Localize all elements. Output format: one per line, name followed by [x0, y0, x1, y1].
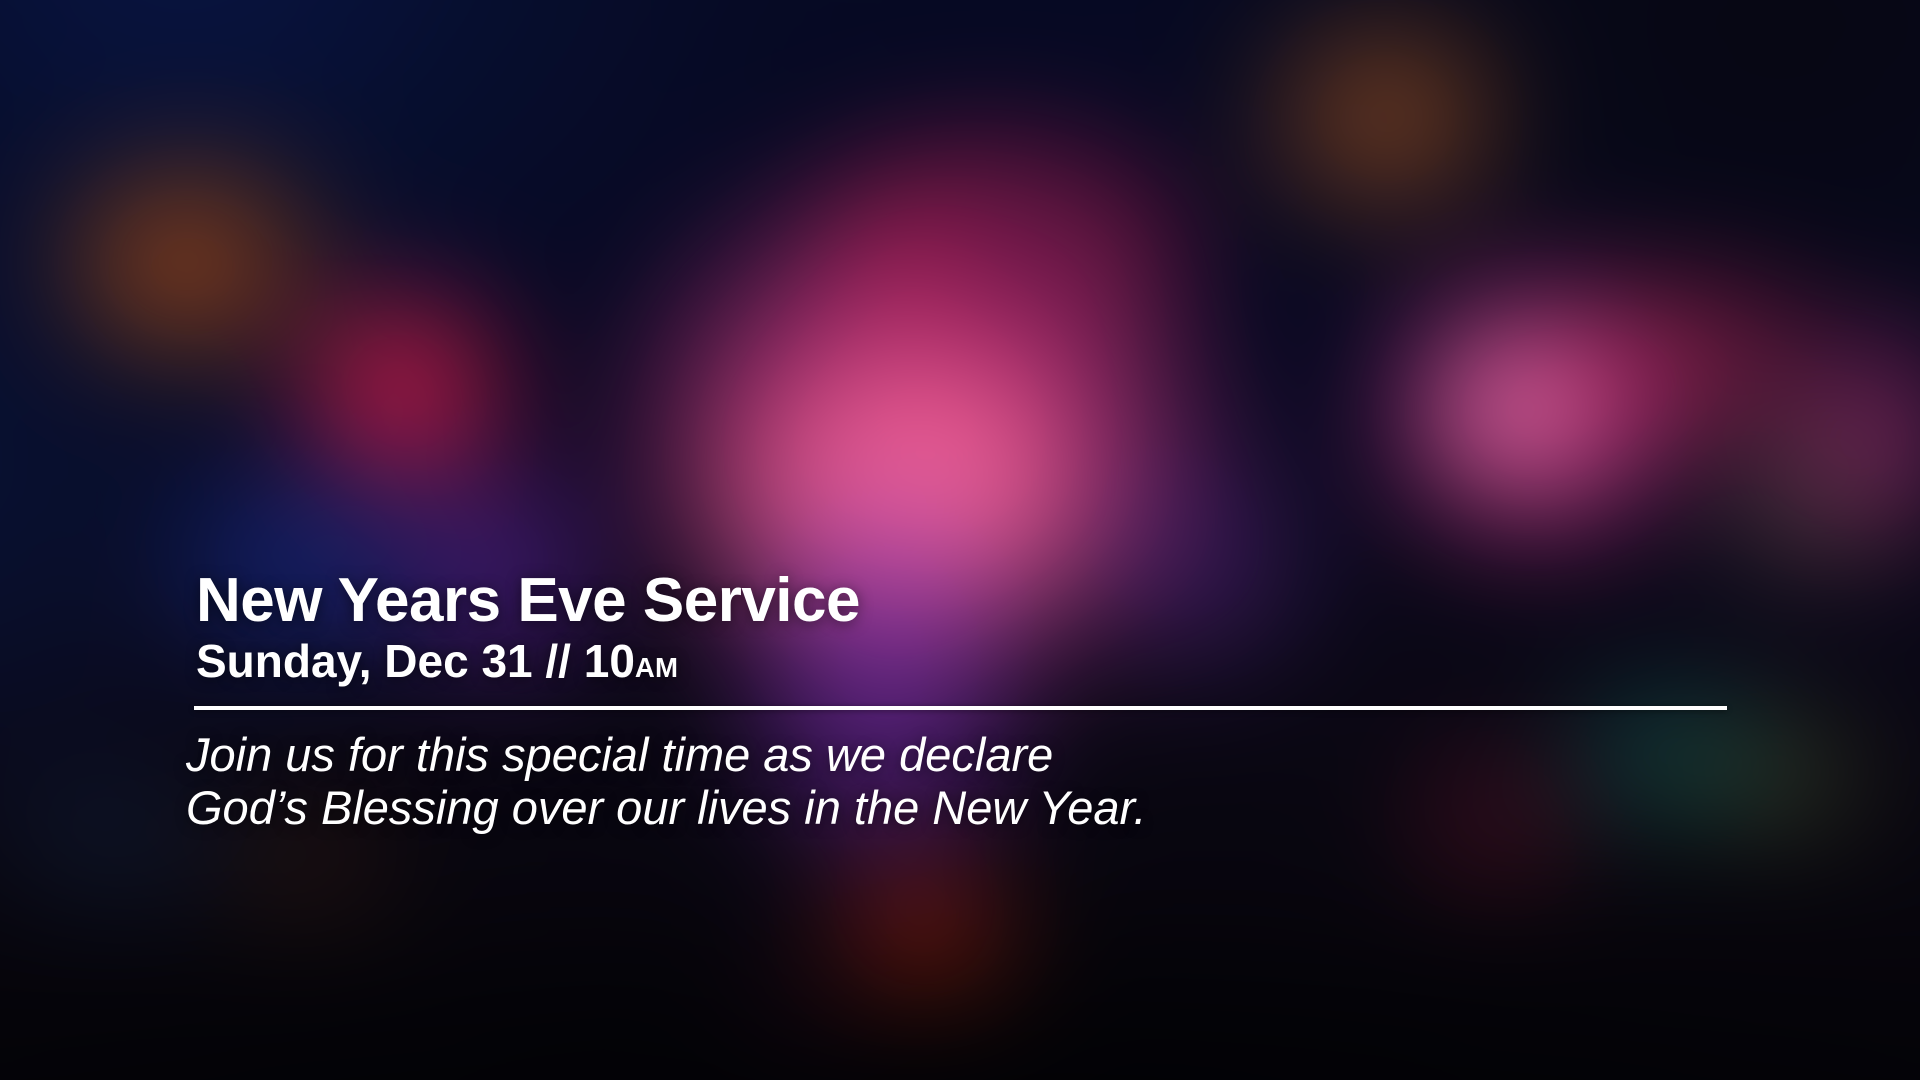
event-datetime: Sunday, Dec 31 // 10AM [196, 638, 1760, 684]
text-block: New Years Eve Service Sunday, Dec 31 // … [160, 570, 1760, 834]
slide-canvas: New Years Eve Service Sunday, Dec 31 // … [0, 0, 1920, 1080]
page-title: New Years Eve Service [196, 570, 1760, 632]
description-line-1: Join us for this special time as we decl… [186, 728, 1760, 781]
bokeh-upper-right-rust-core [1327, 48, 1477, 168]
event-date-text: Sunday, Dec 31 // 10 [196, 635, 635, 687]
event-meridiem-text: AM [635, 652, 678, 683]
background-artwork [0, 0, 1920, 1080]
bokeh-center-crown-dark [908, 183, 1128, 313]
divider-rule [194, 706, 1727, 710]
event-description: Join us for this special time as we decl… [186, 728, 1760, 834]
bokeh-left-ember-core [98, 210, 248, 330]
description-line-2: God’s Blessing over our lives in the New… [186, 781, 1760, 834]
